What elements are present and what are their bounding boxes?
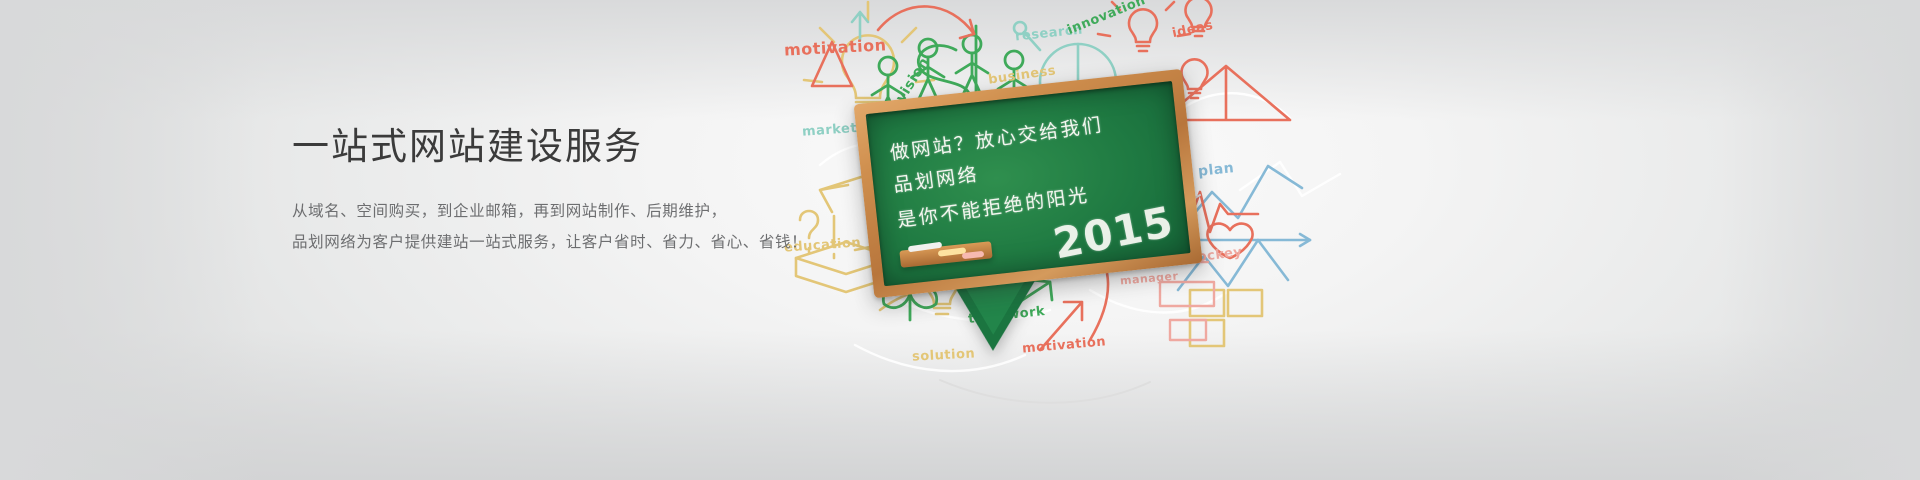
subtitle-line-1: 从域名、空间购买，到企业邮箱，再到网站制作、后期维护， [292, 196, 852, 227]
hero-banner: 一站式网站建设服务 从域名、空间购买，到企业邮箱，再到网站制作、后期维护， 品划… [0, 0, 1920, 480]
chalk-line-1: 做网站？放心交给我们 [888, 110, 1105, 166]
blackboard: 做网站？放心交给我们 品划网络 是你不能拒绝的阳光 2015 [854, 69, 1207, 333]
banner-subtitle: 从域名、空间购买，到企业邮箱，再到网站制作、后期维护， 品划网络为客户提供建站一… [292, 196, 852, 258]
page-title: 一站式网站建设服务 [292, 124, 852, 170]
gradient-band-left [0, 0, 260, 480]
banner-copy: 一站式网站建设服务 从域名、空间购买，到企业邮箱，再到网站制作、后期维护， 品划… [292, 124, 852, 258]
chalk-line-2: 品划网络 [892, 159, 981, 197]
subtitle-line-2: 品划网络为客户提供建站一站式服务，让客户省时、省力、省心、省钱！ [292, 227, 852, 258]
